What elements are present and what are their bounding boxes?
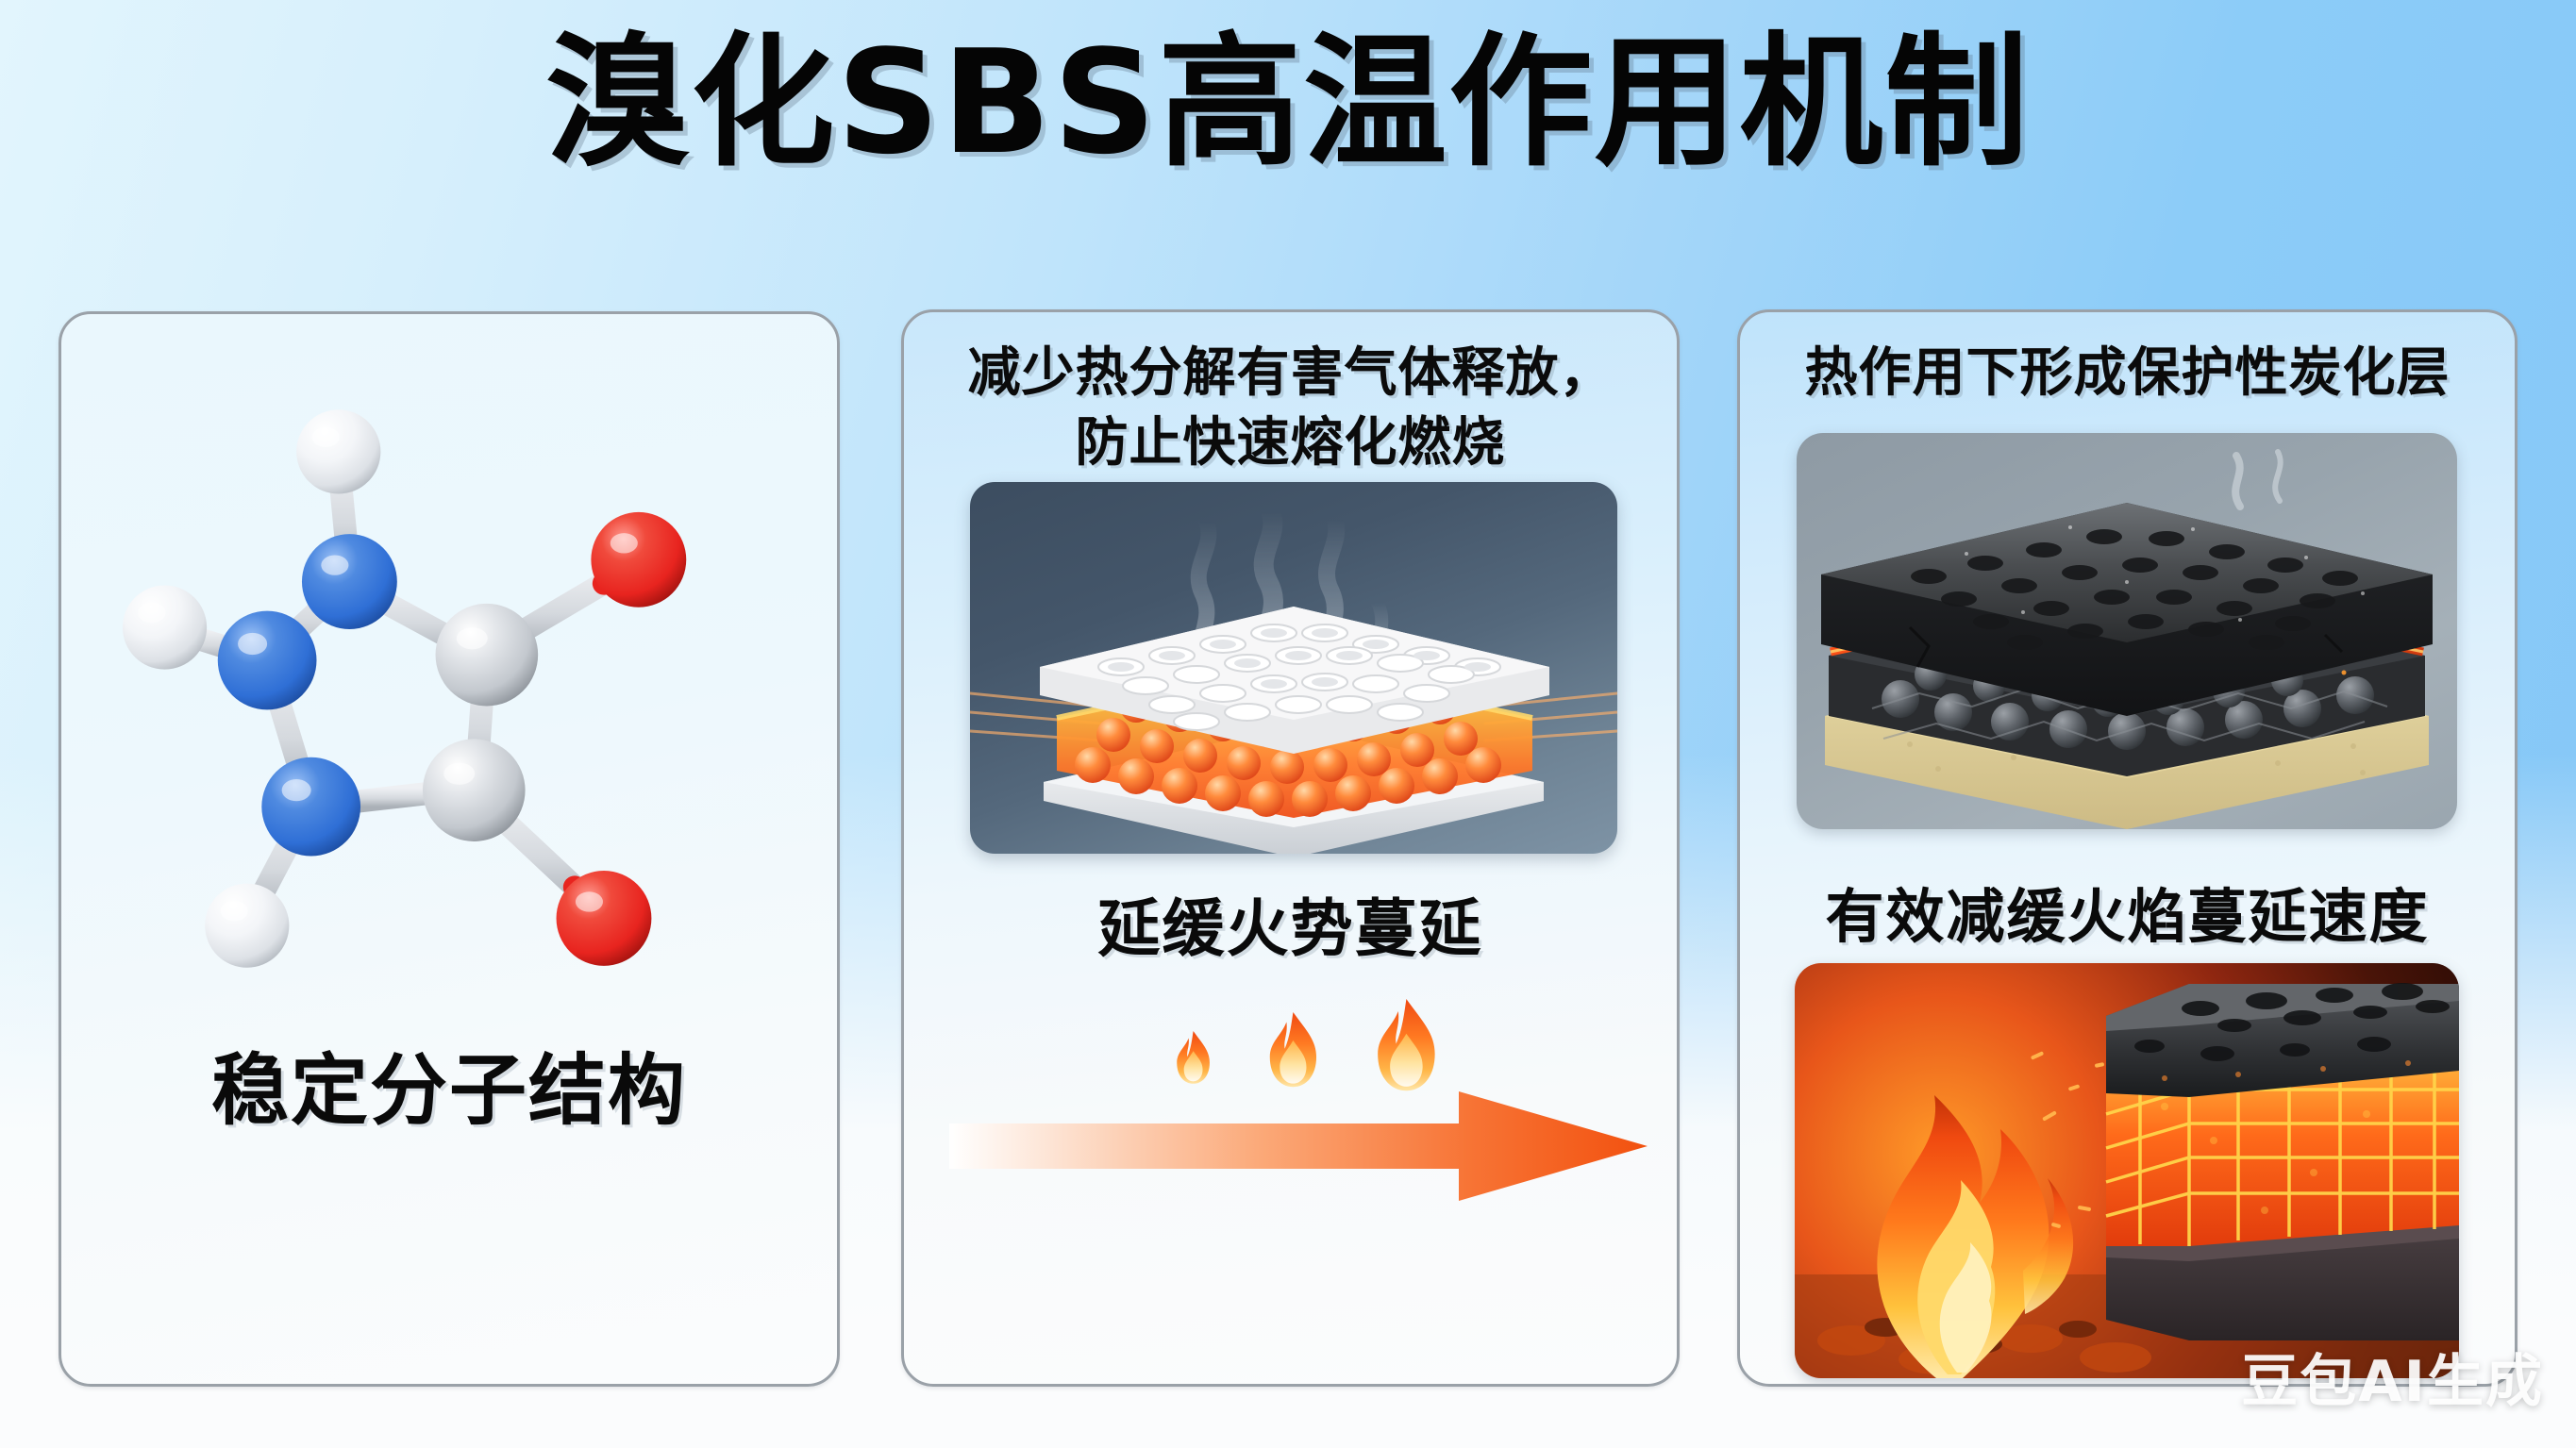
flame-against-block-illustration xyxy=(1795,963,2459,1378)
spread-arrow-icon xyxy=(949,1086,1648,1208)
atom-oxygen xyxy=(591,512,686,607)
atom-nitrogen xyxy=(261,757,360,857)
panel-label-reduce-gas: 延缓火势蔓延 xyxy=(904,878,1677,969)
flame-icon-medium xyxy=(1270,1012,1316,1087)
atom-oxygen xyxy=(557,871,652,966)
atom-carbon xyxy=(436,604,539,707)
molecule-atoms xyxy=(123,409,686,968)
panel-label-char-layer: 有效减缓火焰蔓延速度 xyxy=(1740,869,2515,954)
atom-hydrogen xyxy=(296,409,380,493)
panel-heading-char-layer: 热作用下形成保护性炭化层 xyxy=(1740,339,2515,408)
layered-block xyxy=(2106,983,2459,1340)
atom-carbon xyxy=(423,739,526,841)
flame-icon-large xyxy=(1378,999,1434,1090)
molecule-diagram xyxy=(99,388,805,991)
panel-reduce-gas: 减少热分解有害气体释放， 防止快速熔化燃烧 xyxy=(901,309,1680,1387)
smoke-wisps-char xyxy=(2235,452,2281,507)
panel-heading-reduce-gas: 减少热分解有害气体释放， 防止快速熔化燃烧 xyxy=(904,339,1677,478)
char-layer-cross-section-illustration xyxy=(1797,433,2457,829)
page-title: 溴化SBS高温作用机制 xyxy=(0,21,2576,186)
atom-nitrogen xyxy=(218,611,317,710)
atom-nitrogen xyxy=(302,534,397,629)
atom-hydrogen xyxy=(123,585,207,669)
panel-label-stable-molecule: 稳定分子结构 xyxy=(61,1027,837,1140)
flame-icon-small xyxy=(1177,1031,1210,1084)
atom-hydrogen xyxy=(205,884,289,968)
honeycomb-heat-illustration xyxy=(970,482,1617,854)
panel-char-layer: 热作用下形成保护性炭化层 xyxy=(1737,309,2517,1387)
panel-stable-molecule: 稳定分子结构 xyxy=(59,311,840,1387)
